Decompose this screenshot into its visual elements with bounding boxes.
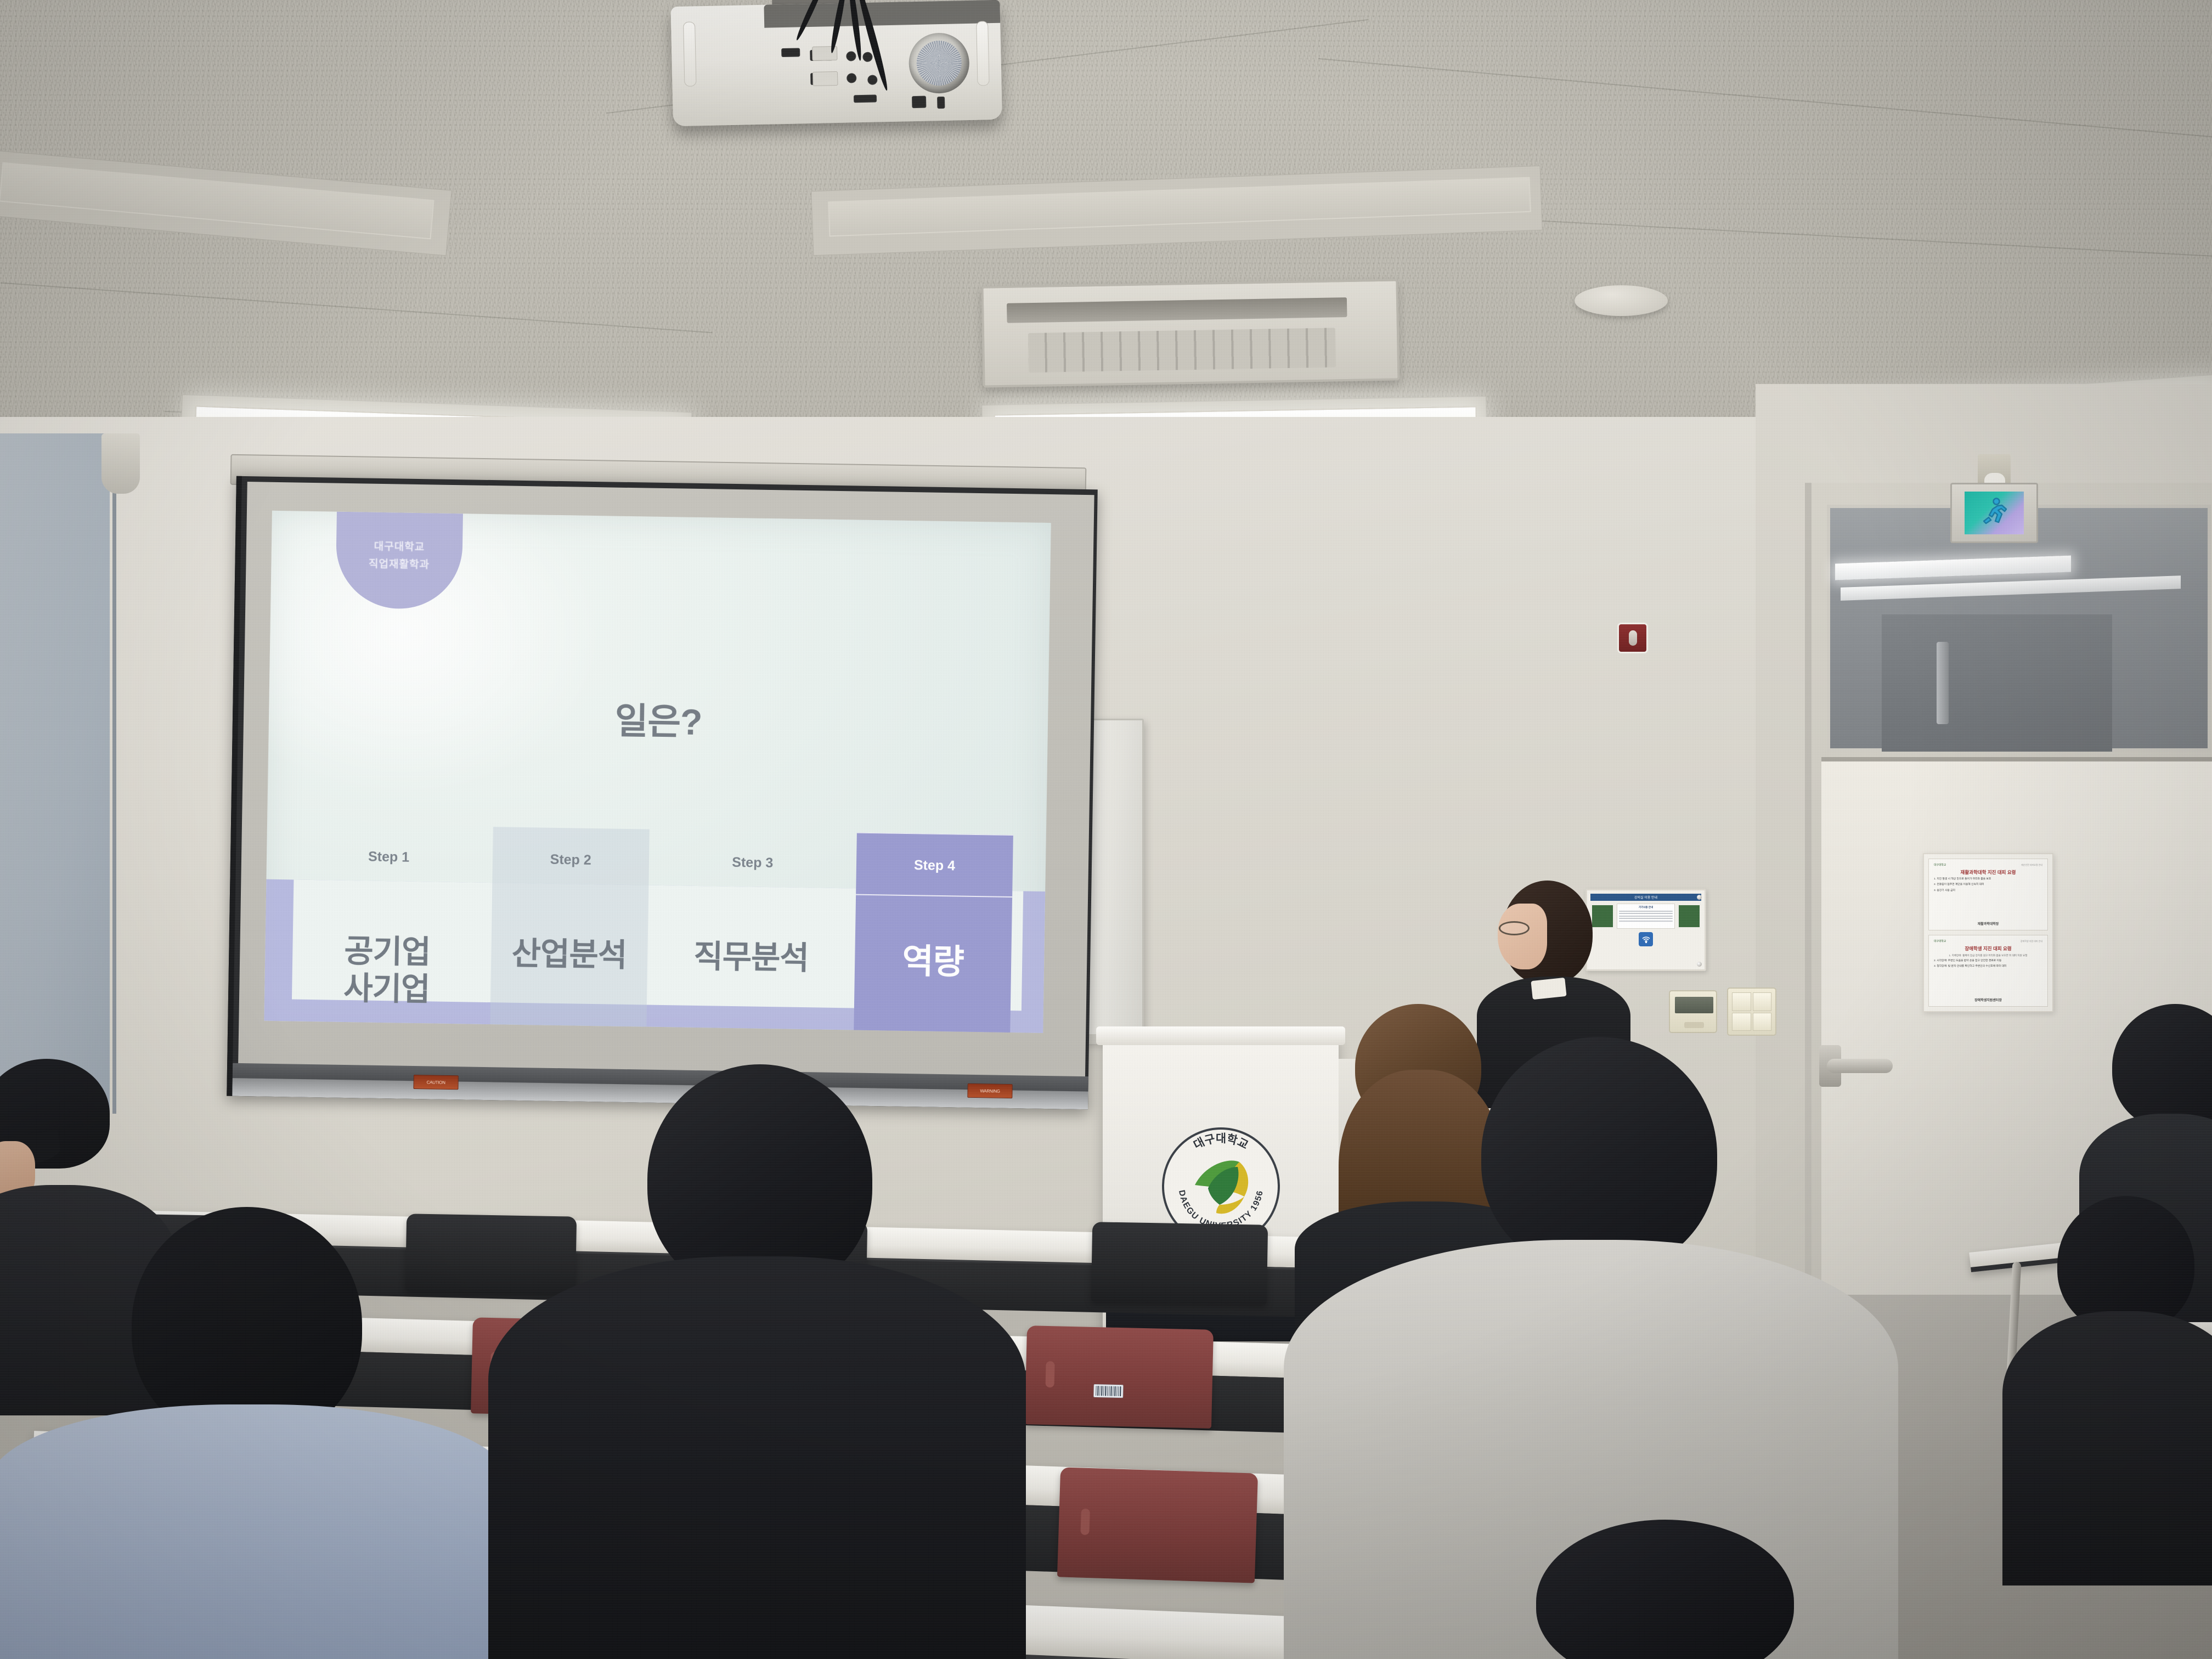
notice-line: 2. 흔들림이 멈추면 계단을 이용해 신속히 대피 — [1934, 883, 2042, 887]
chair — [1057, 1467, 1258, 1583]
corridor-door-handle — [1937, 642, 1949, 724]
light-switch-3[interactable] — [1732, 1013, 1751, 1031]
info-panel-section-title: 기기사용 안내 — [1619, 906, 1673, 909]
left-wall-frame — [0, 439, 116, 1114]
audience-torso — [2002, 1311, 2212, 1585]
logo-line-university: 대구대학교 — [374, 538, 425, 554]
info-panel-header-text: 강의실 이용 안내 — [1634, 895, 1657, 900]
notice-line: 1. 지진 발생 시 책상 밑으로 들어가 머리와 몸을 보호 — [1934, 878, 2042, 881]
light-switch-4[interactable] — [1753, 1013, 1772, 1031]
safety-notice-board: 대구대학교 재난안전 대피요령 안내 재활과학대학 지진 대피 요령 1. 지진… — [1923, 853, 2053, 1012]
emergency-exit-sign — [1950, 483, 2038, 543]
audience-member-bottom-right — [1454, 1520, 1882, 1659]
audience-head — [2112, 1004, 2212, 1130]
notice-logo: 대구대학교 — [1934, 863, 1946, 867]
step-4-number: Step 4 — [914, 857, 955, 874]
thermostat[interactable] — [1669, 990, 1717, 1033]
notice-line: 3. 승강기 사용 금지 — [1934, 889, 2042, 893]
presentation-slide: 대구대학교 직업재활학과 일은? Step 1 공기업 사기업 — [264, 511, 1051, 1033]
lecture-hall-photo: 대구대학교 직업재활학과 일은? Step 1 공기업 사기업 — [0, 0, 2212, 1659]
notice-subtitle: 1. 지체장애: 휠체어 잠금 장치를 걸고 머리와 몸을 보호한 뒤 대피 지… — [1934, 954, 2042, 957]
audience-torso — [488, 1256, 1026, 1659]
info-panel-text-block: 기기사용 안내 — [1617, 904, 1675, 929]
logo-line-department: 직업재활학과 — [369, 556, 430, 572]
notice-item: 대구대학교 장애학생 지원 대피 안내 장애학생 지진 대피 요령 1. 지체장… — [1928, 935, 2048, 1007]
audience-member-center — [510, 1064, 1004, 1659]
screen-surface: 대구대학교 직업재활학과 일은? Step 1 공기업 사기업 — [238, 482, 1094, 1081]
slide-step-4: Step 4 역량 — [851, 833, 1013, 1033]
presenter-glasses — [1499, 921, 1530, 935]
notice-meta: 재난안전 대피요령 안내 — [2021, 864, 2042, 867]
step-1-number: Step 1 — [368, 849, 409, 866]
wall-speaker — [101, 433, 140, 494]
slide-step-1: Step 1 공기업 사기업 — [305, 824, 467, 1033]
notice-line: 3. 청각장애: 빛·문자 안내를 확인하고 주변인의 수신호에 따라 대피 — [1934, 965, 2042, 968]
thermostat-display — [1675, 997, 1713, 1013]
notice-meta: 장애학생 지원 대피 안내 — [2021, 940, 2042, 943]
presenter-collar — [1531, 978, 1566, 1000]
ceiling-projector — [670, 0, 1003, 153]
chair-asset-barcode — [1093, 1384, 1124, 1398]
step-4-label: 역량 — [902, 941, 964, 983]
step-3-number: Step 3 — [732, 855, 773, 871]
corridor-door-visible-through-glass — [1882, 614, 2112, 752]
ac-grille — [1028, 328, 1336, 373]
fire-alarm-pull-station[interactable] — [1617, 623, 1648, 653]
thermostat-button[interactable] — [1684, 1022, 1704, 1028]
svg-text:대구대학교: 대구대학교 — [1192, 1132, 1250, 1152]
audience-torso — [0, 1404, 510, 1659]
notice-line: 2. 시각장애: 주변인 도움을 받아 손을 잡고 안전한 경로로 이동 — [1934, 960, 2042, 963]
notice-logo: 대구대학교 — [1934, 939, 1946, 943]
step-2-label: 산업분석 — [511, 935, 627, 975]
notice-item: 대구대학교 재난안전 대피요령 안내 재활과학대학 지진 대피 요령 1. 지진… — [1928, 859, 2048, 930]
step-3-label: 직무분석 — [693, 938, 809, 978]
slide-logo-badge: 대구대학교 직업재활학과 — [335, 512, 463, 610]
emergency-exit-running-man-icon — [1965, 492, 2024, 534]
projector-lens — [909, 32, 970, 94]
audience-member-front-left — [22, 1207, 472, 1659]
audience-member-right-desk — [2008, 1196, 2212, 1580]
smoke-detector — [1575, 285, 1668, 316]
light-switch-2[interactable] — [1753, 992, 1772, 1011]
audience-head — [1481, 1037, 1717, 1273]
notice-footer: 장애학생지원센터장 — [1934, 997, 2042, 1002]
slide-title: 일은? — [268, 686, 1048, 751]
notice-footer: 재활과학대학장 — [1934, 921, 2042, 926]
chair — [1091, 1222, 1268, 1305]
ceiling-air-conditioner — [981, 279, 1400, 387]
chair — [1025, 1325, 1214, 1429]
step-1-label: 공기업 사기업 — [343, 933, 431, 1009]
step-2-number: Step 2 — [550, 852, 591, 868]
slide-step-2: Step 2 산업분석 — [487, 827, 650, 1033]
slide-steps-row: Step 1 공기업 사기업 Step 2 — [304, 824, 1013, 1033]
light-switch-4-gang[interactable] — [1727, 988, 1776, 1036]
wifi-icon — [1639, 932, 1653, 946]
info-panel-photo-right — [1677, 904, 1701, 929]
slide-step-3: Step 3 직무분석 — [669, 830, 831, 1033]
audience-head — [1536, 1520, 1794, 1659]
light-switch-1[interactable] — [1732, 992, 1751, 1011]
presenter-face — [1498, 904, 1547, 969]
ac-intake-slot — [1007, 297, 1347, 323]
notice-title: 장애학생 지진 대피 요령 — [1934, 945, 2042, 952]
projection-screen: 대구대학교 직업재활학과 일은? Step 1 공기업 사기업 — [227, 476, 1098, 1110]
screen-warning-label-left: CAUTION — [413, 1075, 458, 1090]
notice-title: 재활과학대학 지진 대피 요령 — [1934, 869, 2042, 876]
